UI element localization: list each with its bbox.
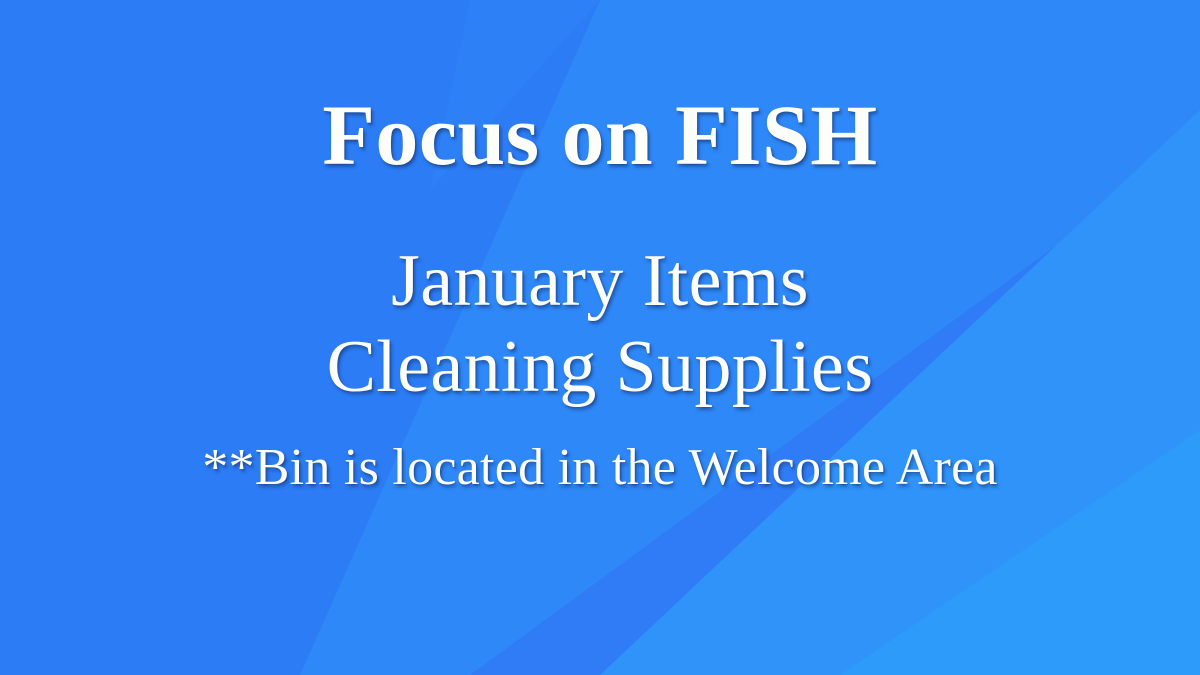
slide-title: Focus on FISH xyxy=(322,92,877,178)
slide-note-bin-location: **Bin is located in the Welcome Area xyxy=(202,442,998,494)
slide-text-block: Focus on FISH January Items Cleaning Sup… xyxy=(0,0,1200,675)
slide-canvas: Focus on FISH January Items Cleaning Sup… xyxy=(0,0,1200,675)
slide-subtitle-category: Cleaning Supplies xyxy=(327,330,874,404)
slide-subtitle-month-items: January Items xyxy=(391,244,809,318)
